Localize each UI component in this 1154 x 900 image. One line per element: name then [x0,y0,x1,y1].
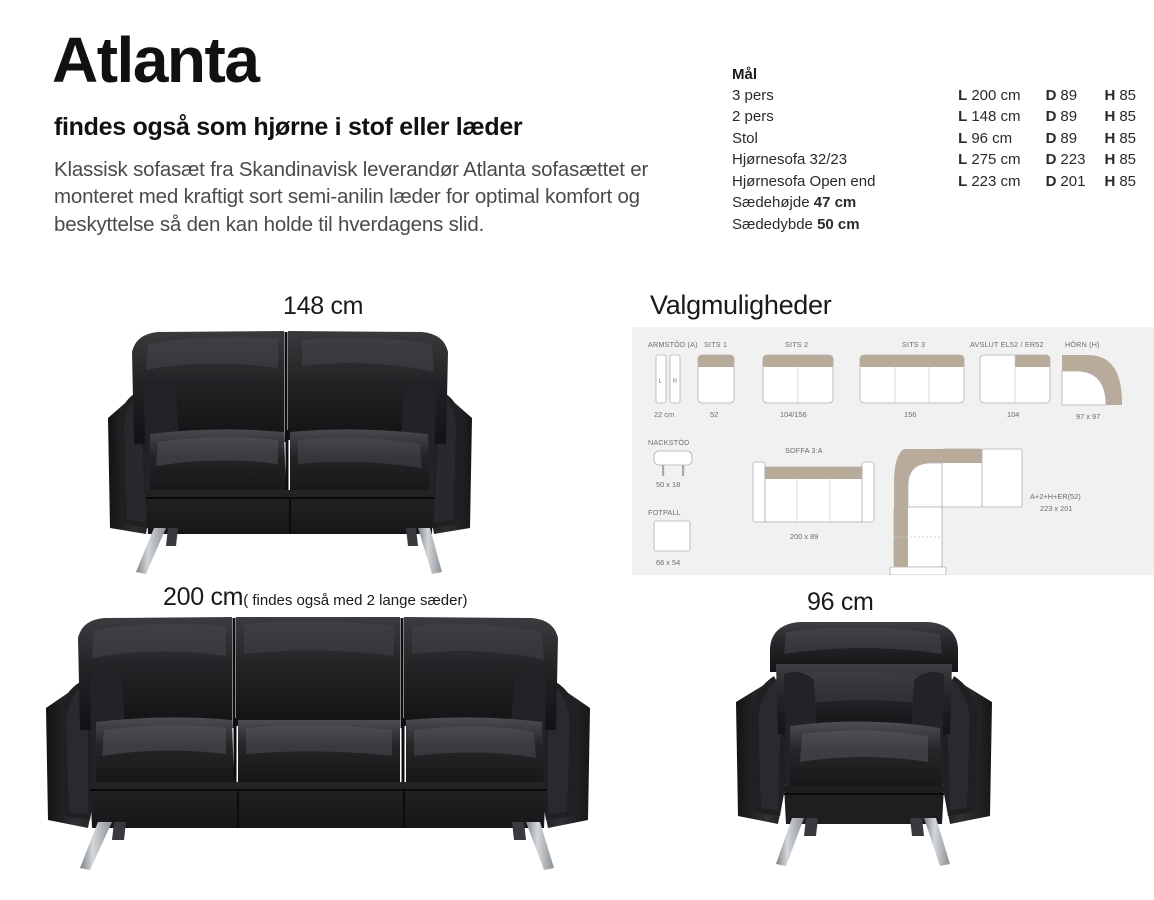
option-label-fotpall: FOTPALL [648,508,681,517]
caption-two-seater: 148 cm [283,292,363,321]
fotpall-shape [654,521,690,551]
option-size-sits3: 156 [904,410,916,419]
chair-leg [924,818,950,866]
photo-three-seater-sofa [38,608,598,880]
page-subtitle: findes også som hjørne i stof eller læde… [54,113,522,142]
option-size-armstod: 22 cm [654,410,674,419]
option-size-sits2: 104/156 [780,410,807,419]
measurement-name: Stol [732,128,958,149]
option-size-nackstod: 50 x 18 [656,480,680,489]
nackstod-shape [654,451,692,476]
measurement-height: H85 [1104,106,1152,127]
options-diagram-panel: .dg-lbl { font-family: "Liberation Sans"… [632,327,1154,575]
sits3-shape [860,355,964,403]
measurement-length: L275 cm [958,149,1045,170]
sofa-leg [526,822,554,870]
measurement-row: Stol L96 cm D89 H85 [732,128,1152,149]
soffa3a-shape [753,462,874,522]
seat-height-row: Sædehøjde 47 cm [732,192,1152,213]
corner-sofa-shape [890,449,1022,575]
option-label-nackstod: NACKSTÖD [648,438,690,447]
option-label-avslut: AVSLUT EL52 / ER52 [970,340,1044,349]
option-label-soffa3a: SOFFA 3:A [785,446,823,455]
measurement-row: 3 pers L200 cm D89 H85 [732,85,1152,106]
measurement-height: H85 [1104,85,1152,106]
option-size-horn: 97 x 97 [1076,412,1100,421]
sits1-shape [698,355,734,403]
measurements-title: Mål [732,66,1152,83]
measurement-row: Hjørnesofa Open end L223 cm D201 H85 [732,171,1152,192]
option-label-sits3: SITS 3 [902,340,925,349]
measurement-depth: D89 [1046,85,1105,106]
option-size-sits1: 52 [710,410,718,419]
measurement-name: 2 pers [732,106,958,127]
measurement-length: L96 cm [958,128,1045,149]
sofa-leg [80,822,112,870]
option-label-sits2: SITS 2 [785,340,808,349]
option-size-soffa3a: 200 x 89 [790,532,818,541]
measurement-name: 3 pers [732,85,958,106]
measurement-depth: D89 [1046,128,1105,149]
product-description: Klassisk sofasæt fra Skandinavisk levera… [54,156,654,238]
seat-depth-row: Sædedybde 50 cm [732,214,1152,235]
measurement-row: 2 pers L148 cm D89 H85 [732,106,1152,127]
option-size-avslut: 104 [1007,410,1019,419]
option-label-sits1: SITS 1 [704,340,727,349]
sofa-leg [136,528,166,574]
measurement-height: H85 [1104,171,1152,192]
option-size-corner: 223 x 201 [1040,504,1072,513]
seat-height-value: 47 cm [814,194,857,211]
caption-three-seater-size: 200 cm [163,583,243,611]
armstod-right-mark: R [673,378,678,385]
measurement-name: Hjørnesofa Open end [732,171,958,192]
avslut-shape [980,355,1050,403]
caption-three-seater-note: ( findes også med 2 lange sæder) [243,592,467,609]
measurement-height: H85 [1104,128,1152,149]
seat-height-label: Sædehøjde [732,194,810,211]
chair-leg [776,818,804,866]
measurement-depth: D223 [1046,149,1105,170]
measurement-length: L200 cm [958,85,1045,106]
measurement-row: Hjørnesofa 32/23 L275 cm D223 H85 [732,149,1152,170]
photo-armchair [714,608,1014,888]
page-title: Atlanta [52,28,258,92]
sits2-shape [763,355,833,403]
measurement-height: H85 [1104,149,1152,170]
measurement-name: Hjørnesofa 32/23 [732,149,958,170]
product-sheet: Atlanta findes også som hjørne i stof el… [0,0,1154,900]
armstod-left-mark: L [659,378,663,385]
photo-two-seater-sofa [88,322,492,582]
options-title: Valgmuligheder [650,290,831,321]
measurement-depth: D89 [1046,106,1105,127]
option-label-corner: A+2+H+ER(52) [1030,492,1081,501]
option-label-horn: HÖRN (H) [1065,340,1100,349]
horn-shape [1062,355,1122,405]
seat-depth-label: Sædedybde [732,216,813,233]
option-label-armstod: ARMSTÖD (A) [648,340,698,349]
measurements-table: Mål 3 pers L200 cm D89 H85 2 pers L148 c… [732,66,1152,235]
measurement-depth: D201 [1046,171,1105,192]
seat-depth-value: 50 cm [817,216,860,233]
sofa-leg [418,528,442,574]
option-size-fotpall: 66 x 54 [656,558,680,567]
measurement-length: L148 cm [958,106,1045,127]
measurement-length: L223 cm [958,171,1045,192]
